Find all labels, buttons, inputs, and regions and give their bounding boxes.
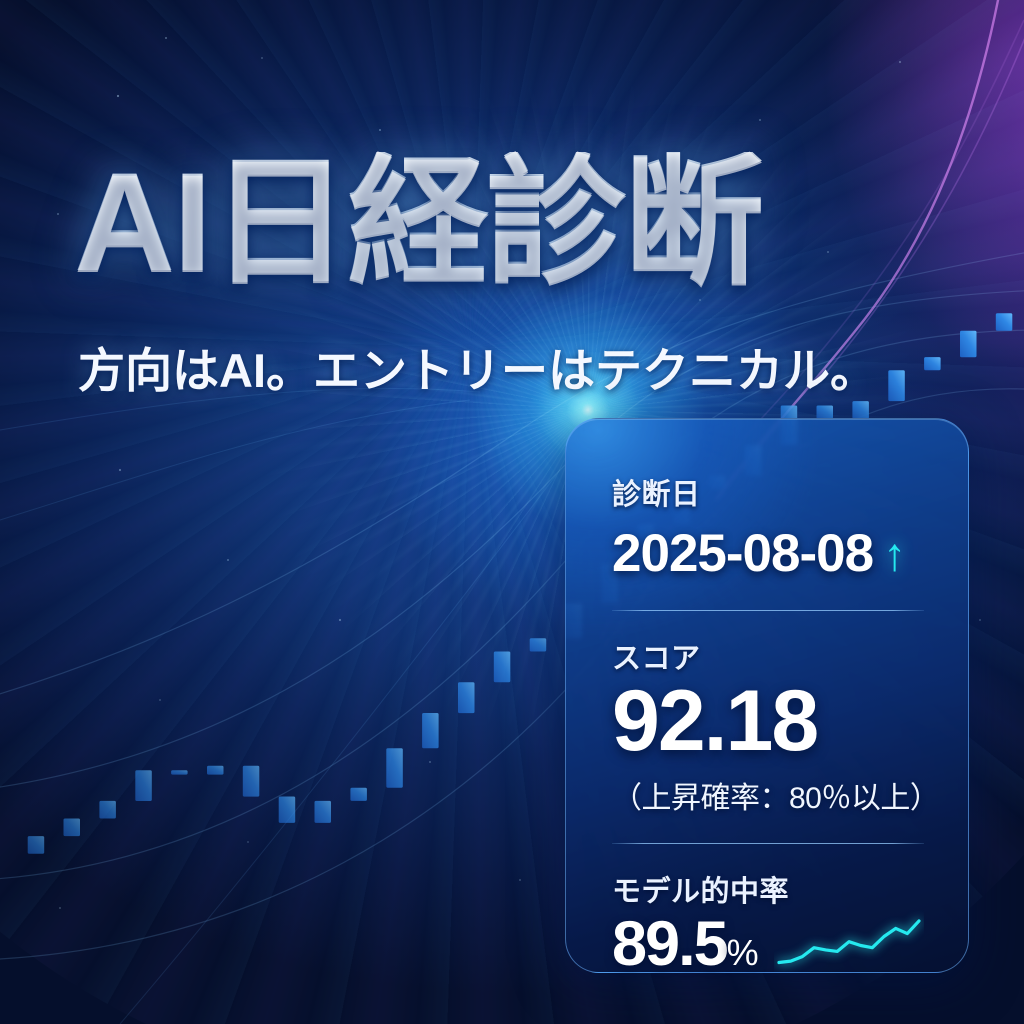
date-label: 診断日 [612,471,924,513]
score-note: （上昇確率：80％以上） [612,773,924,817]
accuracy-row: 89.5% [612,910,924,976]
accuracy-sparkline-chart [774,910,924,972]
trend-up-arrow-icon: ↑ [883,531,905,577]
date-block: 診断日 2025-08-08 ↑ [612,471,924,584]
page-title: AI日経診断 [74,152,762,292]
accuracy-unit: % [727,932,758,973]
hero-subtitle: 方向はAI。エントリーはテクニカル。 [78,332,877,401]
accuracy-value: 89.5 [612,909,727,979]
accuracy-block: モデル的中率 89.5% [612,868,924,976]
accuracy-value-wrap: 89.5% [612,913,758,976]
score-value: 92.18 [612,679,924,763]
poster-canvas: AI日経診断 方向はAI。エントリーはテクニカル。 診断日 2025-08-08… [0,0,1024,1024]
score-label: スコア [612,635,924,677]
divider-2 [612,843,924,844]
score-block: スコア 92.18 （上昇確率：80％以上） [612,635,924,817]
date-value: 2025-08-08 [612,523,873,584]
divider-1 [612,610,924,611]
hero-title-wrap: AI日経診断 [74,152,762,292]
date-value-row: 2025-08-08 ↑ [612,523,924,584]
accuracy-label: モデル的中率 [612,868,924,910]
diagnosis-card: 診断日 2025-08-08 ↑ スコア 92.18 （上昇確率：80％以上） … [565,418,969,973]
